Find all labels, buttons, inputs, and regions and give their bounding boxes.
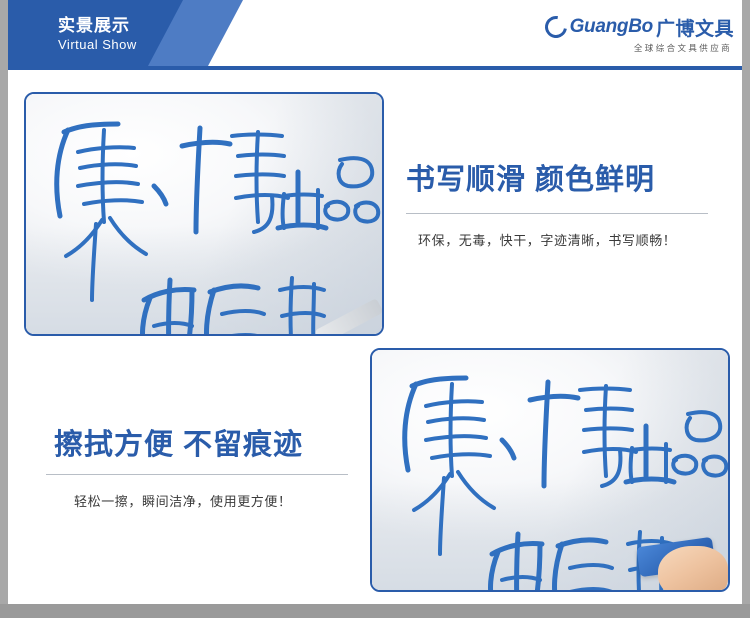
- headline-divider-1: [406, 213, 708, 214]
- photo-whiteboard-writing: [24, 92, 384, 336]
- logo-brand-cn: 广博文具: [656, 14, 734, 41]
- logo-slogan: 全球综合文具供应商: [544, 42, 734, 54]
- page-root: 实景展示 Virtual Show GuangBo 广博文具 全球综合文具供应商: [0, 0, 750, 618]
- headline-divider-2: [46, 474, 348, 475]
- headline-erasing: 擦拭方便 不留痕迹: [54, 421, 303, 463]
- header-divider: [0, 66, 750, 70]
- handwriting-strokes: [26, 94, 382, 334]
- logo-brand-en: GuangBo: [570, 16, 653, 38]
- brand-logo: GuangBo 广博文具 全球综合文具供应商: [544, 14, 734, 56]
- page-title: 实景展示: [58, 11, 130, 36]
- hand-2: [658, 546, 728, 592]
- page-edge-left: [0, 0, 8, 618]
- photo-whiteboard-erasing: [370, 348, 730, 592]
- subline-erasing: 轻松一擦，瞬间洁净，使用更方便！: [74, 491, 292, 510]
- footer-bar: [0, 604, 750, 618]
- headline-writing: 书写顺滑 颜色鲜明: [406, 156, 655, 198]
- page-header: 实景展示 Virtual Show GuangBo 广博文具 全球综合文具供应商: [0, 0, 750, 70]
- subline-writing: 环保，无毒，快干，字迹清晰，书写顺畅！: [418, 230, 676, 249]
- page-edge-right: [742, 0, 750, 618]
- logo-row: GuangBo 广博文具: [544, 14, 734, 40]
- page-subtitle: Virtual Show: [58, 37, 137, 52]
- circle-swoosh-icon: [540, 12, 571, 43]
